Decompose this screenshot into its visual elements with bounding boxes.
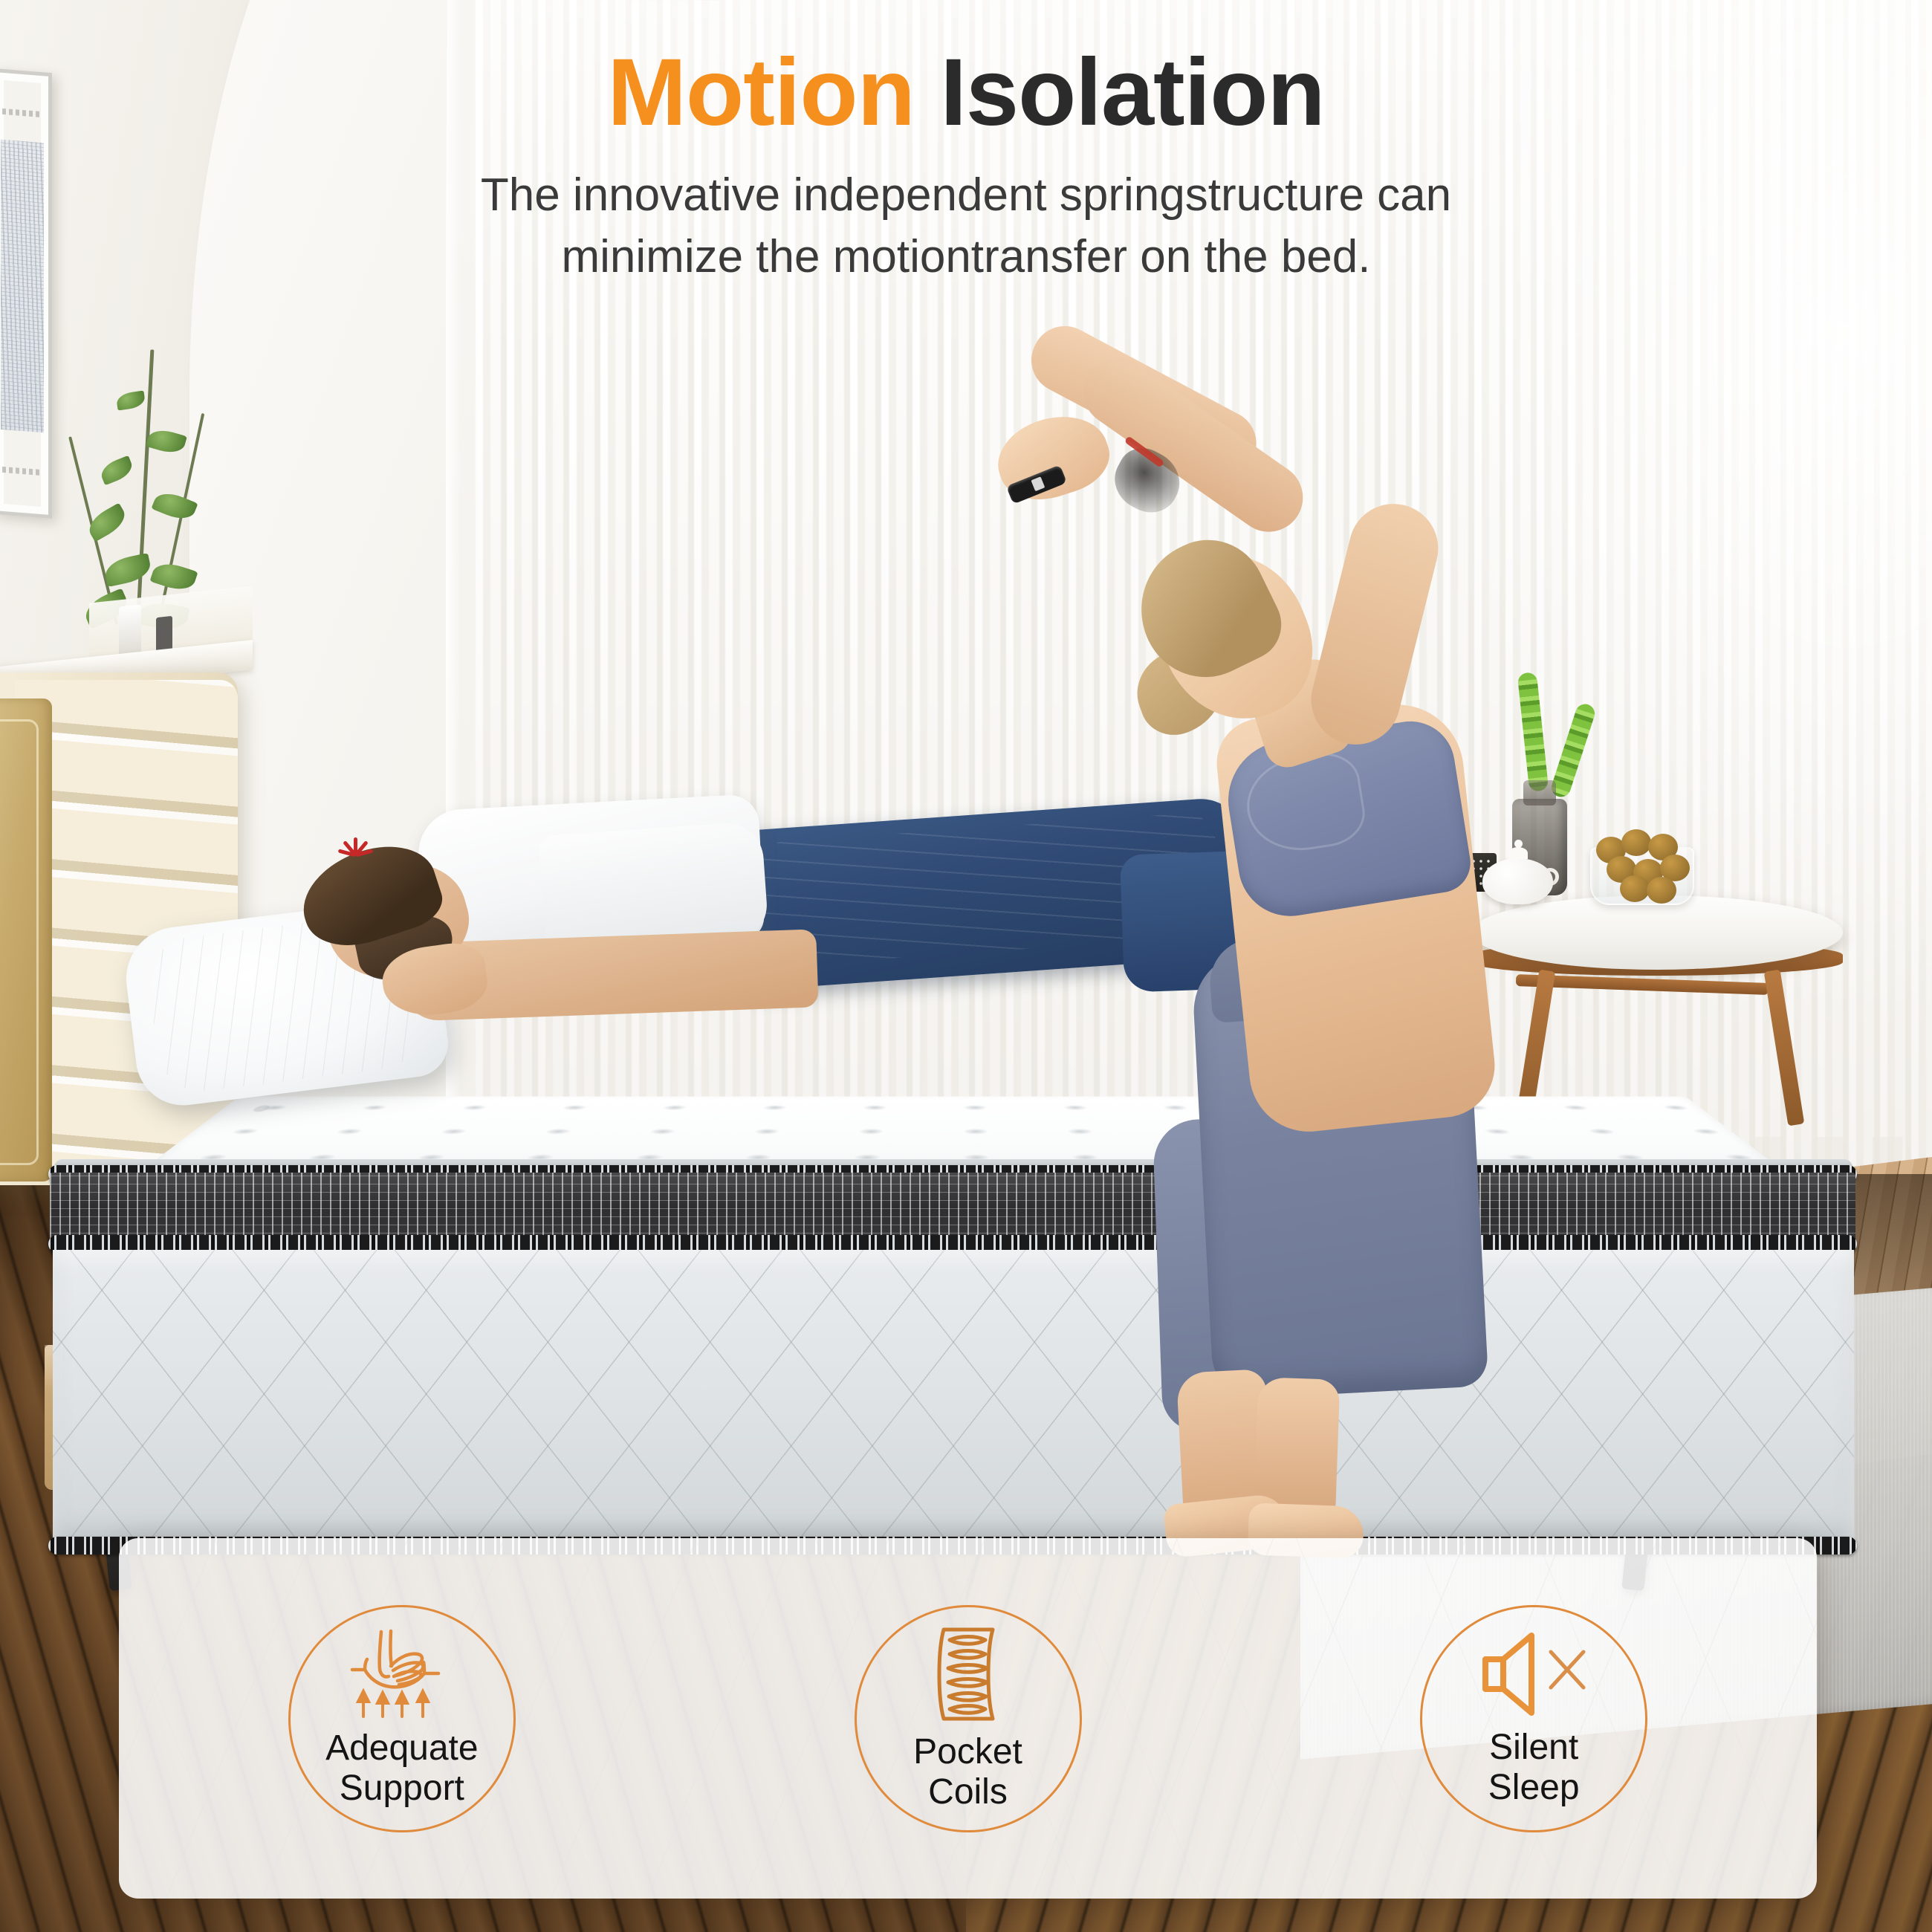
feature-label-3-line2: Sleep xyxy=(1488,1768,1580,1808)
red-flower-accent xyxy=(342,837,372,867)
header-block: Motion Isolation The innovative independ… xyxy=(0,43,1932,288)
feature-badge-2: Pocket Coils xyxy=(855,1605,1082,1832)
feature-label-2-line2: Coils xyxy=(913,1772,1022,1812)
feature-label-3: Silent Sleep xyxy=(1488,1728,1580,1808)
subtitle-line-2: minimize the motiontransfer on the bed. xyxy=(0,226,1932,288)
speaker-body xyxy=(1485,1636,1531,1713)
feature-label-1: Adequate Support xyxy=(325,1728,479,1809)
pocket-coil-spring-icon xyxy=(927,1625,1009,1723)
feature-silent-sleep[interactable]: Silent Sleep xyxy=(1251,1605,1817,1832)
feature-badge-1: Adequate Support xyxy=(288,1605,516,1832)
feature-panel: Adequate Support xyxy=(119,1538,1817,1899)
feature-label-2: Pocket Coils xyxy=(913,1732,1022,1812)
feature-label-1-line1: Adequate xyxy=(325,1728,479,1769)
feature-badge-3: Silent Sleep xyxy=(1420,1605,1647,1832)
headboard-gold-inner-trim xyxy=(0,719,39,1165)
sleeping-man xyxy=(245,806,996,1029)
mute-cross xyxy=(1551,1652,1583,1688)
feature-pocket-coils[interactable]: Pocket Coils xyxy=(685,1605,1251,1832)
feature-label-2-line1: Pocket xyxy=(913,1732,1022,1772)
title-accent-word: Motion xyxy=(607,39,914,146)
glass-fruit-bowl xyxy=(1590,847,1694,905)
shelf-object-vase xyxy=(119,604,141,655)
page-title: Motion Isolation xyxy=(0,43,1932,142)
promo-image-canvas: Motion Isolation The innovative independ… xyxy=(0,0,1932,1932)
mattress-quilted-side xyxy=(53,1250,1854,1540)
page-subtitle: The innovative independent springstructu… xyxy=(0,164,1932,288)
feature-adequate-support[interactable]: Adequate Support xyxy=(119,1605,685,1832)
title-rest-word: Isolation xyxy=(940,39,1324,146)
potted-plant xyxy=(71,320,212,639)
stretching-woman xyxy=(1011,412,1531,1542)
muted-speaker-icon xyxy=(1478,1630,1589,1719)
feature-label-1-line2: Support xyxy=(325,1769,479,1809)
feature-label-3-line1: Silent xyxy=(1488,1728,1580,1768)
subtitle-line-1: The innovative independent springstructu… xyxy=(0,164,1932,226)
hand-pressing-support-icon xyxy=(347,1629,457,1719)
